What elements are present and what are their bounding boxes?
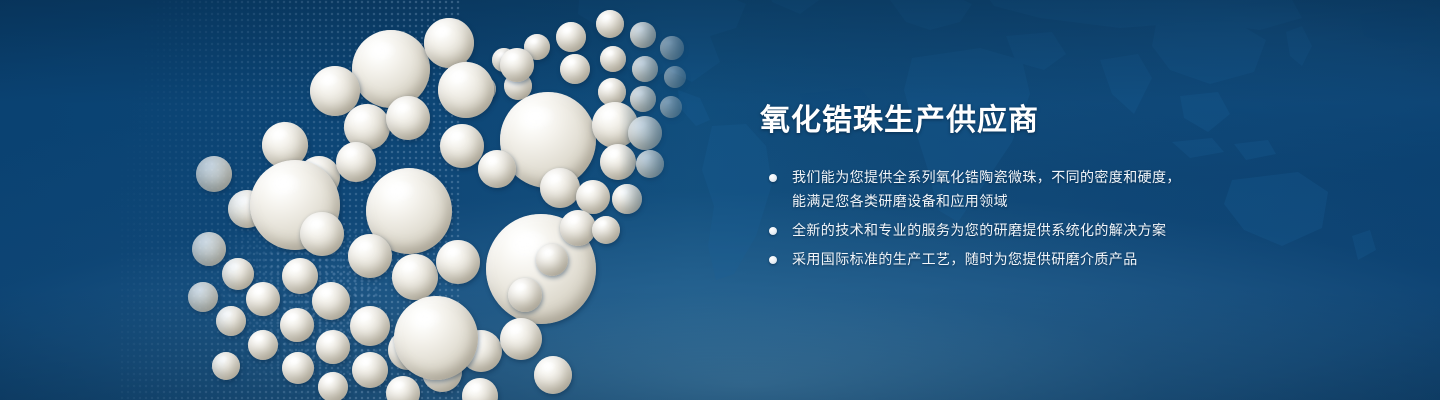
list-item: 全新的技术和专业的服务为您的研磨提供系统化的解决方案 — [760, 219, 1300, 243]
bullet-text-line-1: 全新的技术和专业的服务为您的研磨提供系统化的解决方案 — [792, 223, 1166, 239]
bullet-dot-icon — [769, 174, 777, 182]
list-item: 采用国际标准的生产工艺，随时为您提供研磨介质产品 — [760, 248, 1300, 272]
bullet-text-line-1: 采用国际标准的生产工艺，随时为您提供研磨介质产品 — [792, 252, 1138, 268]
list-item: 我们能为您提供全系列氧化锆陶瓷微珠，不同的密度和硬度， 能满足您各类研磨设备和应… — [760, 166, 1300, 214]
feature-bullet-list: 我们能为您提供全系列氧化锆陶瓷微珠，不同的密度和硬度， 能满足您各类研磨设备和应… — [760, 166, 1300, 272]
hero-banner: 氧化锆珠生产供应商 我们能为您提供全系列氧化锆陶瓷微珠，不同的密度和硬度， 能满… — [0, 0, 1440, 400]
zirconia-beads-photo — [0, 0, 720, 400]
bullet-dot-icon — [769, 256, 777, 264]
bullet-dot-icon — [769, 227, 777, 235]
banner-text-block: 氧化锆珠生产供应商 我们能为您提供全系列氧化锆陶瓷微珠，不同的密度和硬度， 能满… — [760, 104, 1300, 277]
bullet-text-line-1: 我们能为您提供全系列氧化锆陶瓷微珠，不同的密度和硬度， — [792, 170, 1181, 186]
bullet-text-line-2: 能满足您各类研磨设备和应用领域 — [792, 190, 1300, 214]
page-title: 氧化锆珠生产供应商 — [760, 104, 1300, 138]
